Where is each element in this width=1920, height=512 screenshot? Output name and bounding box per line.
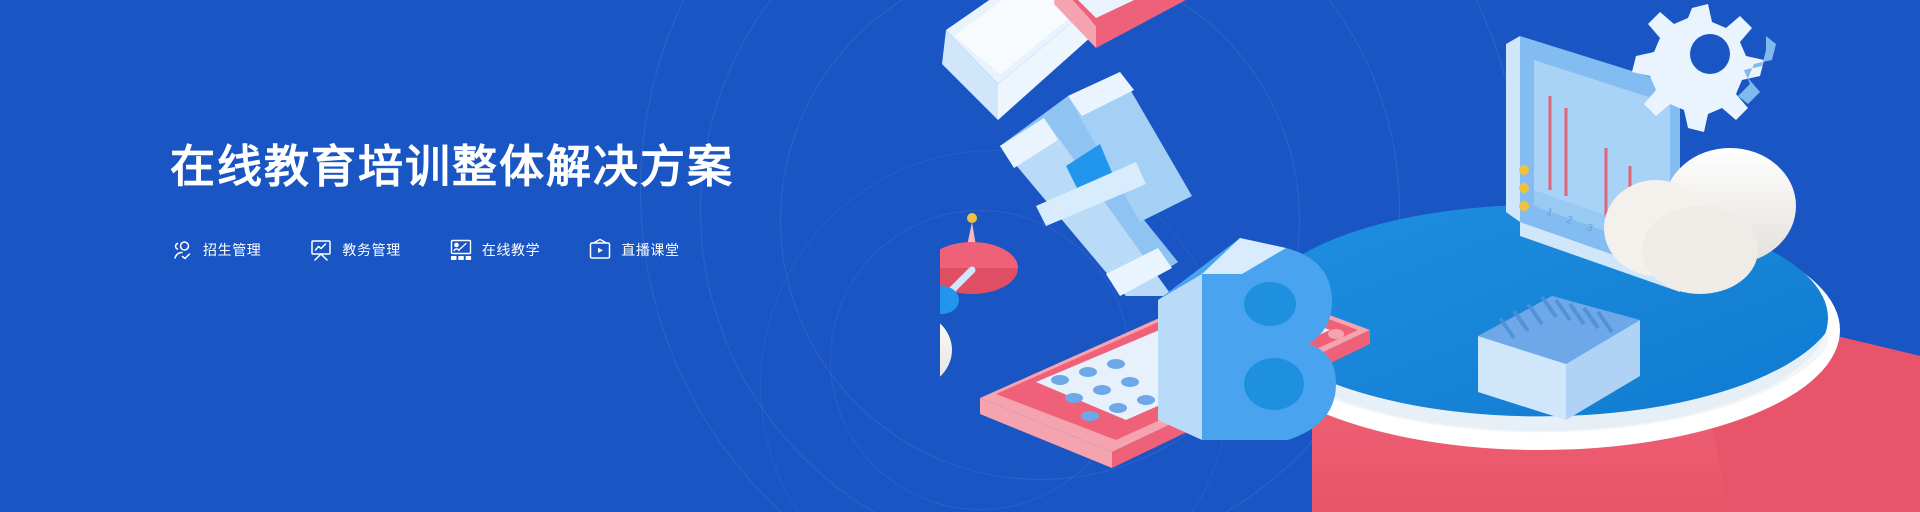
classroom-icon [449, 238, 473, 262]
gear-icon [1632, 4, 1776, 132]
feature-item-live-classroom[interactable]: 直播课堂 [588, 238, 679, 262]
feature-label: 招生管理 [203, 240, 261, 260]
banner-copy: 在线教育培训整体解决方案 招生管理 [170, 140, 790, 262]
page-title: 在线教育培训整体解决方案 [170, 140, 790, 194]
hero-banner: 1 2 3 4 5 6 [0, 0, 1920, 512]
letter-b-3d [1158, 238, 1336, 440]
spinning-top [940, 213, 1018, 314]
easel-chart-icon [309, 238, 333, 262]
users-icon [170, 238, 194, 262]
letter-a-3d [1000, 72, 1192, 296]
feature-item-academic-affairs[interactable]: 教务管理 [309, 238, 400, 262]
feature-label: 教务管理 [342, 240, 400, 260]
feature-label: 直播课堂 [621, 240, 679, 260]
feature-list: 招生管理 教务管理 [170, 238, 790, 262]
cloud-small [940, 312, 952, 404]
feature-item-enrollment[interactable]: 招生管理 [170, 238, 261, 262]
tv-play-icon [588, 238, 612, 262]
hero-illustration: 1 2 3 4 5 6 [940, 0, 1920, 512]
feature-label: 在线教学 [482, 240, 540, 260]
feature-item-online-teaching[interactable]: 在线教学 [449, 238, 540, 262]
